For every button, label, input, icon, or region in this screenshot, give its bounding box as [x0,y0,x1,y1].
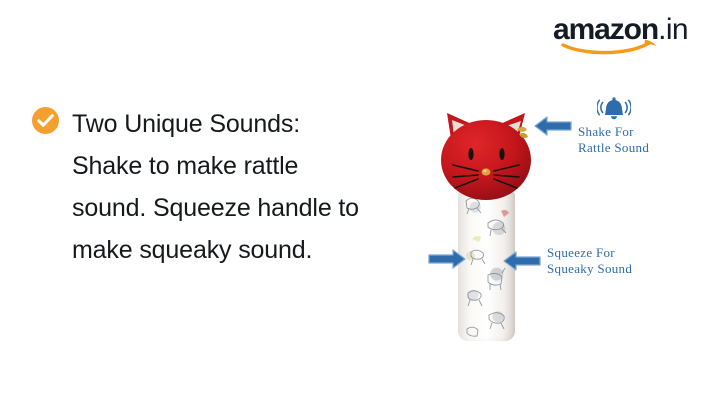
arrow-left-icon [534,115,572,137]
annotation-label-squeeze: Squeeze For Squeaky Sound [547,245,632,277]
toy-cat-head [433,109,539,205]
amazon-logo: amazon.in [553,14,685,54]
arrow-right-icon [428,248,466,270]
arrow-left-icon [503,250,541,272]
annotation-shake-rattle: Shake For Rattle Sound [534,96,649,156]
ringing-bell-icon [597,96,631,123]
product-image [426,101,546,346]
annotation-label-rattle: Shake For Rattle Sound [578,124,649,156]
annotation-squeeze-squeaky: Squeeze For Squeaky Sound [503,245,632,277]
amazon-swoosh-icon [561,38,662,56]
feature-description: Two Unique Sounds: Shake to make rattle … [72,103,362,271]
check-circle-icon [32,107,59,134]
brand-tld: .in [658,13,688,46]
feature-bullet: Two Unique Sounds: Shake to make rattle … [32,103,362,271]
